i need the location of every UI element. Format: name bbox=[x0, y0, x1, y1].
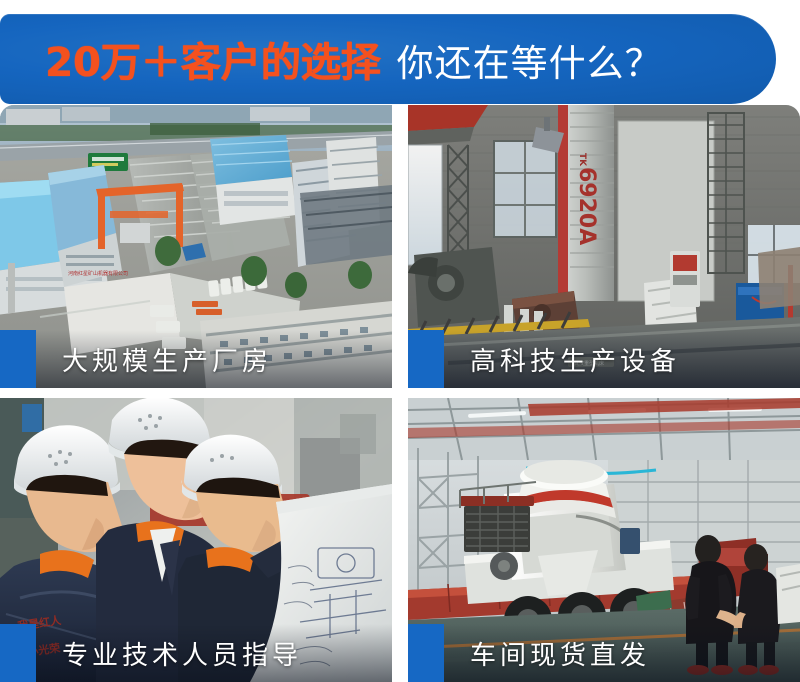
photo-aerial-factory-complex: 河南红星矿山机器有限公司 bbox=[0, 105, 392, 388]
photo-cnc-boring-machine: TK 6920A bbox=[408, 105, 800, 388]
gallery-cell-high-tech-production-equipment[interactable]: TK 6920A bbox=[408, 105, 800, 388]
banner-accent-headline: 20万＋客户的选择 bbox=[45, 30, 381, 88]
header-banner: 20万＋客户的选择 你还在等什么？ bbox=[0, 14, 776, 104]
gallery-cell-professional-technician-guidance[interactable]: 我是红人 小光荣 bbox=[0, 398, 392, 682]
svg-text:6920A: 6920A bbox=[574, 167, 599, 245]
photo-crusher-loaded-on-flatbed-truck bbox=[408, 398, 800, 682]
gallery-cell-large-scale-production-workshop[interactable]: 河南红星矿山机器有限公司 bbox=[0, 105, 392, 388]
gallery-grid: 河南红星矿山机器有限公司 bbox=[0, 105, 800, 682]
photo-engineers-reviewing-blueprint: 我是红人 小光荣 bbox=[0, 398, 392, 682]
svg-text:武汉重型机床: 武汉重型机床 bbox=[574, 360, 604, 367]
svg-text:TK: TK bbox=[577, 153, 587, 167]
header-banner-text-group: 20万＋客户的选择 你还在等什么？ bbox=[0, 30, 663, 88]
gallery-cell-workshop-in-stock-direct-shipping[interactable]: 车间现货直发 bbox=[408, 398, 800, 682]
promo-page: 20万＋客户的选择 你还在等什么？ bbox=[0, 0, 800, 682]
banner-sub-headline: 你还在等什么？ bbox=[397, 33, 663, 87]
svg-text:河南红星矿山机器有限公司: 河南红星矿山机器有限公司 bbox=[68, 270, 128, 277]
